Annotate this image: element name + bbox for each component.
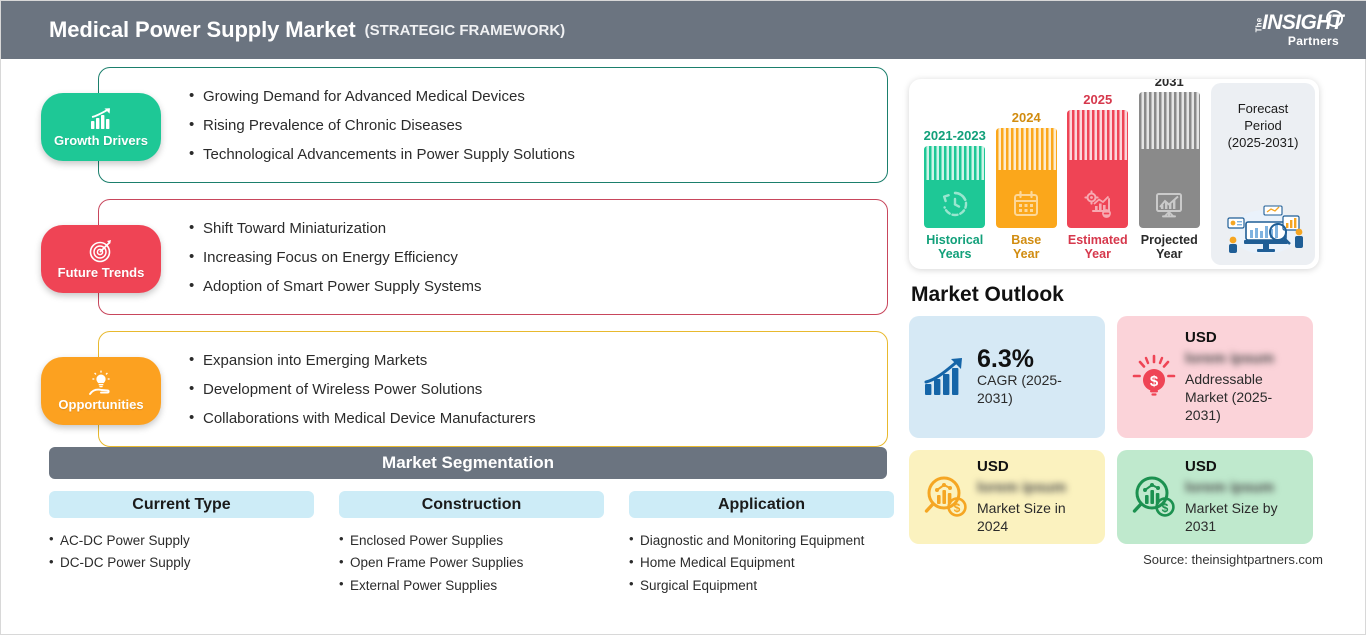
forecast-bar-stripes — [924, 146, 985, 180]
target-dart-icon — [88, 238, 114, 264]
svg-text:$: $ — [954, 501, 961, 515]
outlook-card-body: USDlorem ipsumAddressable Market (2025-2… — [1185, 329, 1303, 425]
factor-badge-growth-drivers[interactable]: Growth Drivers — [41, 93, 161, 161]
forecast-bar-shape — [996, 128, 1057, 228]
segmentation-item: Home Medical Equipment — [629, 552, 894, 575]
forecast-bar-shape — [1067, 110, 1128, 228]
magnifier-chart-dollar-icon: $ — [1129, 474, 1179, 520]
factor-bullet-item: Technological Advancements in Power Supp… — [189, 140, 887, 169]
factor-content-box: Growing Demand for Advanced Medical Devi… — [98, 67, 888, 183]
forecast-period-label: Forecast Period (2025-2031) — [1228, 101, 1299, 152]
growth-bars-arrow-icon — [921, 356, 971, 398]
forecast-bar-year: 2025 — [1083, 92, 1112, 107]
segmentation-column-title: Construction — [339, 491, 604, 518]
segmentation-item: DC-DC Power Supply — [49, 552, 314, 575]
outlook-card[interactable]: 6.3%CAGR (2025-2031) — [909, 316, 1105, 438]
forecast-caption-line-2: Years — [926, 247, 983, 261]
outlook-card-currency: USD — [977, 458, 1095, 476]
insight-partners-logo: The INSIGHT Partners — [1223, 8, 1349, 52]
segmentation-column: ConstructionEnclosed Power SuppliesOpen … — [339, 491, 604, 597]
outlook-card-label: Market Size in 2024 — [977, 500, 1095, 536]
factor-bullet-item: Shift Toward Miniaturization — [189, 214, 887, 243]
infographic-root: Medical Power Supply Market (STRATEGIC F… — [0, 0, 1366, 635]
segmentation-item: Surgical Equipment — [629, 574, 894, 597]
forecast-bar-stripes — [1067, 110, 1128, 160]
forecast-caption-line-1: Base — [1011, 233, 1041, 247]
page-title: Medical Power Supply Market — [49, 17, 356, 43]
forecast-caption-line-2: Year — [1141, 247, 1198, 261]
logo-circle-icon — [1326, 10, 1343, 27]
page-header: Medical Power Supply Market (STRATEGIC F… — [1, 1, 1366, 59]
forecast-bar-caption: ProjectedYear — [1141, 233, 1198, 261]
segmentation-item-list: Diagnostic and Monitoring EquipmentHome … — [629, 529, 894, 597]
market-outlook-cards: 6.3%CAGR (2025-2031)$USDlorem ipsumAddre… — [909, 316, 1327, 544]
market-segmentation-header: Market Segmentation — [49, 447, 887, 479]
segmentation-column: ApplicationDiagnostic and Monitoring Equ… — [629, 491, 894, 597]
factor-bullet-list: Expansion into Emerging MarketsDevelopme… — [189, 346, 887, 433]
outlook-card-label: Addressable Market (2025-2031) — [1185, 371, 1303, 425]
svg-text:$: $ — [1150, 373, 1159, 390]
segmentation-item-list: AC-DC Power SupplyDC-DC Power Supply — [49, 529, 314, 574]
forecast-line-3: (2025-2031) — [1228, 135, 1299, 152]
strategic-factors-list: Growing Demand for Advanced Medical Devi… — [41, 67, 901, 449]
segmentation-item: Enclosed Power Supplies — [339, 529, 604, 552]
segmentation-column-title: Current Type — [49, 491, 314, 518]
magnifier-chart-dollar-icon: $ — [921, 474, 971, 520]
outlook-card-label: CAGR (2025-2031) — [977, 372, 1095, 408]
growth-chart-icon — [88, 106, 114, 132]
factor-bullet-list: Growing Demand for Advanced Medical Devi… — [189, 82, 887, 169]
right-column: 2021-2023HistoricalYears2024BaseYear2025… — [909, 79, 1327, 567]
forecast-bar-caption: HistoricalYears — [926, 233, 983, 261]
factor-bullet-item: Adoption of Smart Power Supply Systems — [189, 272, 887, 301]
outlook-card-value: 6.3% — [977, 346, 1095, 372]
forecast-bar-year: 2031 — [1155, 79, 1184, 89]
factor-content-box: Expansion into Emerging MarketsDevelopme… — [98, 331, 888, 447]
logo-the-text: The — [1256, 18, 1264, 33]
forecast-caption-line-1: Estimated — [1068, 233, 1128, 247]
forecast-bar-item: 2024BaseYear — [993, 110, 1059, 261]
forecast-caption-line-1: Projected — [1141, 233, 1198, 247]
factor-row: Growing Demand for Advanced Medical Devi… — [41, 67, 901, 185]
analytics-dashboard-illustration-icon — [1220, 202, 1306, 259]
forecast-bar-caption: BaseYear — [1011, 233, 1041, 261]
outlook-card-masked-value: lorem ipsum — [977, 478, 1095, 498]
clock-history-icon — [940, 189, 970, 219]
factor-bullet-item: Increasing Focus on Energy Efficiency — [189, 243, 887, 272]
forecast-bar-item: 2031ProjectedYear — [1136, 79, 1202, 261]
segmentation-item-list: Enclosed Power SuppliesOpen Frame Power … — [339, 529, 604, 597]
forecast-bar-shape — [1139, 92, 1200, 228]
segmentation-column: Current TypeAC-DC Power SupplyDC-DC Powe… — [49, 491, 314, 597]
segmentation-item: AC-DC Power Supply — [49, 529, 314, 552]
gear-chart-icon — [1083, 189, 1113, 219]
factor-badge-future-trends[interactable]: Future Trends — [41, 225, 161, 293]
factor-content-box: Shift Toward MiniaturizationIncreasing F… — [98, 199, 888, 315]
factor-badge-label: Opportunities — [58, 397, 143, 412]
forecast-line-1: Forecast — [1228, 101, 1299, 118]
segmentation-item: Open Frame Power Supplies — [339, 552, 604, 575]
segmentation-columns: Current TypeAC-DC Power SupplyDC-DC Powe… — [49, 491, 895, 597]
outlook-card[interactable]: $USDlorem ipsumMarket Size in 2024 — [909, 450, 1105, 544]
outlook-card-label: Market Size by 2031 — [1185, 500, 1303, 536]
outlook-card-masked-value: lorem ipsum — [1185, 349, 1303, 369]
factor-badge-opportunities[interactable]: Opportunities — [41, 357, 161, 425]
lightbulb-dollar-icon: $ — [1129, 354, 1179, 400]
forecast-line-2: Period — [1228, 118, 1299, 135]
factor-bullet-item: Development of Wireless Power Solutions — [189, 375, 887, 404]
outlook-card[interactable]: $USDlorem ipsumMarket Size by 2031 — [1117, 450, 1313, 544]
lightbulb-hand-icon — [88, 370, 114, 396]
logo-partners-text: Partners — [1288, 34, 1339, 48]
outlook-card-body: USDlorem ipsumMarket Size by 2031 — [1185, 458, 1303, 536]
factor-badge-label: Growth Drivers — [54, 133, 148, 148]
factor-row: Shift Toward MiniaturizationIncreasing F… — [41, 199, 901, 317]
segmentation-item: External Power Supplies — [339, 574, 604, 597]
forecast-bar-item: 2021-2023HistoricalYears — [922, 128, 988, 261]
left-column: Growing Demand for Advanced Medical Devi… — [41, 67, 901, 622]
source-attribution: Source: theinsightpartners.com — [909, 552, 1327, 567]
forecast-period-panel: Forecast Period (2025-2031) — [1211, 83, 1315, 265]
forecast-bar-shape — [924, 146, 985, 228]
calendar-icon — [1011, 189, 1041, 219]
outlook-card-masked-value: lorem ipsum — [1185, 478, 1303, 498]
outlook-card-currency: USD — [1185, 458, 1303, 476]
segmentation-item: Diagnostic and Monitoring Equipment — [629, 529, 894, 552]
forecast-bars-area: 2021-2023HistoricalYears2024BaseYear2025… — [909, 79, 1211, 269]
factor-badge-label: Future Trends — [58, 265, 145, 280]
outlook-card-body: USDlorem ipsumMarket Size in 2024 — [977, 458, 1095, 536]
outlook-card-currency: USD — [1185, 329, 1303, 347]
forecast-bar-year: 2021-2023 — [924, 128, 986, 143]
forecast-caption-line-2: Year — [1011, 247, 1041, 261]
forecast-bar-year: 2024 — [1012, 110, 1041, 125]
forecast-caption-line-1: Historical — [926, 233, 983, 247]
factor-bullet-item: Collaborations with Medical Device Manuf… — [189, 404, 887, 433]
factor-bullet-list: Shift Toward MiniaturizationIncreasing F… — [189, 214, 887, 301]
forecast-bar-caption: EstimatedYear — [1068, 233, 1128, 261]
forecast-caption-line-2: Year — [1068, 247, 1128, 261]
forecast-bar-stripes — [1139, 92, 1200, 149]
market-outlook-title: Market Outlook — [911, 283, 1327, 307]
forecast-bar-stripes — [996, 128, 1057, 170]
segmentation-column-title: Application — [629, 491, 894, 518]
presentation-chart-icon — [1154, 189, 1184, 219]
svg-text:$: $ — [1162, 501, 1169, 515]
factor-bullet-item: Expansion into Emerging Markets — [189, 346, 887, 375]
forecast-bar-item: 2025EstimatedYear — [1065, 92, 1131, 261]
outlook-card-body: 6.3%CAGR (2025-2031) — [977, 346, 1095, 408]
factor-bullet-item: Rising Prevalence of Chronic Diseases — [189, 111, 887, 140]
outlook-card[interactable]: $USDlorem ipsumAddressable Market (2025-… — [1117, 316, 1313, 438]
factor-bullet-item: Growing Demand for Advanced Medical Devi… — [189, 82, 887, 111]
forecast-timeline-chart: 2021-2023HistoricalYears2024BaseYear2025… — [909, 79, 1319, 269]
factor-row: Expansion into Emerging MarketsDevelopme… — [41, 331, 901, 449]
page-subtitle: (STRATEGIC FRAMEWORK) — [365, 22, 566, 39]
